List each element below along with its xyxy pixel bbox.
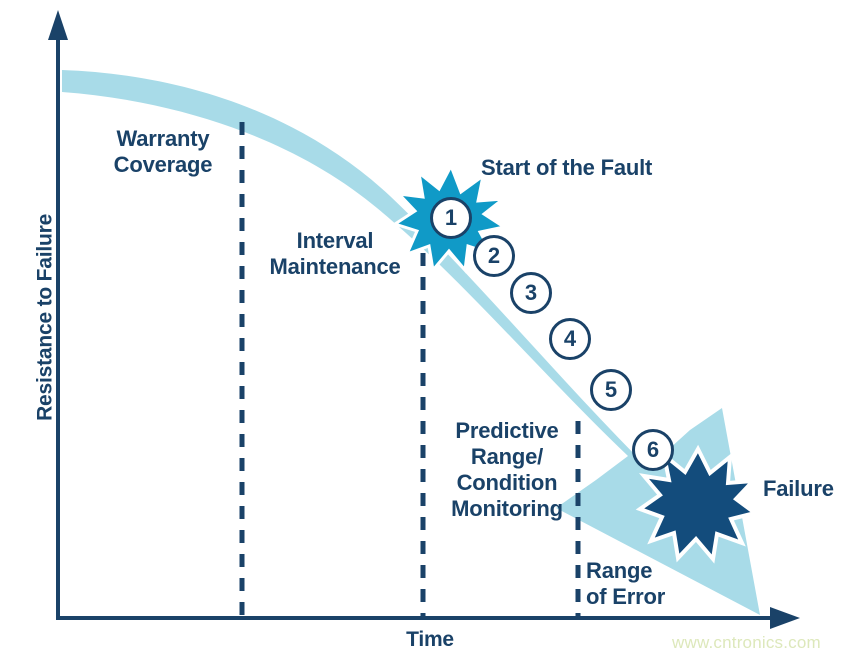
y-axis-arrowhead xyxy=(48,10,68,40)
stage-circle-3[interactable]: 3 xyxy=(510,272,552,314)
label-predictive-range-condition-monitoring: Predictive Range/ Condition Monitoring xyxy=(432,418,582,522)
label-range-of-error: Range of Error xyxy=(586,558,756,610)
x-axis-arrowhead xyxy=(770,607,800,629)
label-warranty-coverage: Warranty Coverage xyxy=(88,126,238,178)
y-axis-label: Resistance to Failure xyxy=(34,207,59,427)
stage-circle-5[interactable]: 5 xyxy=(590,369,632,411)
stage-circle-6[interactable]: 6 xyxy=(632,429,674,471)
stage-circle-1[interactable]: 1 xyxy=(430,197,472,239)
x-axis-label: Time xyxy=(345,628,515,653)
stage-circle-2[interactable]: 2 xyxy=(473,235,515,277)
label-interval-maintenance: Interval Maintenance xyxy=(246,228,424,280)
diagram-canvas: 1 2 3 4 5 6 Warranty Coverage Interval M… xyxy=(0,0,854,660)
label-start-of-the-fault: Start of the Fault xyxy=(481,155,701,181)
watermark: www.cntronics.com xyxy=(672,633,821,653)
stage-circle-4[interactable]: 4 xyxy=(549,318,591,360)
label-failure: Failure xyxy=(763,476,854,502)
